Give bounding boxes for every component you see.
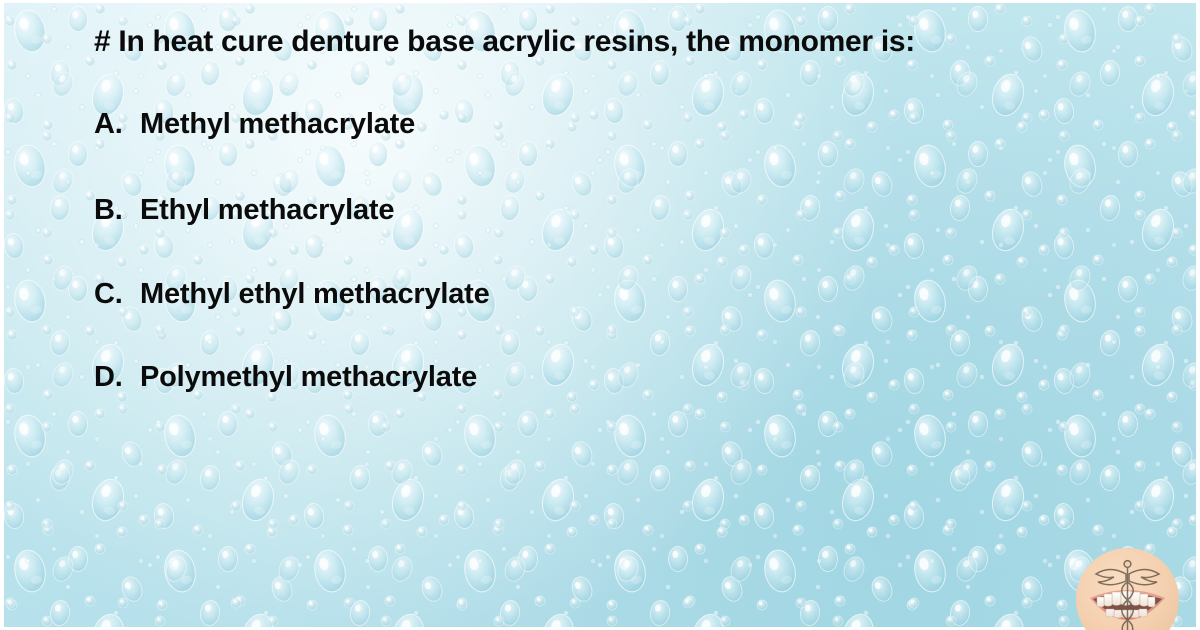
option-c-text: Methyl ethyl methacrylate bbox=[140, 278, 490, 311]
option-a-text: Methyl methacrylate bbox=[140, 108, 415, 141]
option-a-label: A. bbox=[94, 108, 140, 141]
option-b-label: B. bbox=[94, 194, 140, 227]
slide-content: # In heat cure denture base acrylic resi… bbox=[0, 0, 1200, 630]
option-c[interactable]: C. Methyl ethyl methacrylate bbox=[94, 278, 490, 311]
caduceus-over-teeth-icon bbox=[1076, 548, 1179, 630]
slide-canvas: # In heat cure denture base acrylic resi… bbox=[0, 0, 1200, 630]
option-b-text: Ethyl methacrylate bbox=[140, 194, 394, 227]
option-b[interactable]: B. Ethyl methacrylate bbox=[94, 194, 394, 227]
option-d-label: D. bbox=[94, 361, 140, 394]
logo-circle bbox=[1076, 548, 1179, 630]
option-c-label: C. bbox=[94, 278, 140, 311]
watermark-logo: DentCare Nepal bbox=[1076, 548, 1186, 630]
question-text: # In heat cure denture base acrylic resi… bbox=[94, 25, 915, 58]
option-d[interactable]: D. Polymethyl methacrylate bbox=[94, 361, 477, 394]
option-a[interactable]: A. Methyl methacrylate bbox=[94, 108, 415, 141]
option-d-text: Polymethyl methacrylate bbox=[140, 361, 477, 394]
